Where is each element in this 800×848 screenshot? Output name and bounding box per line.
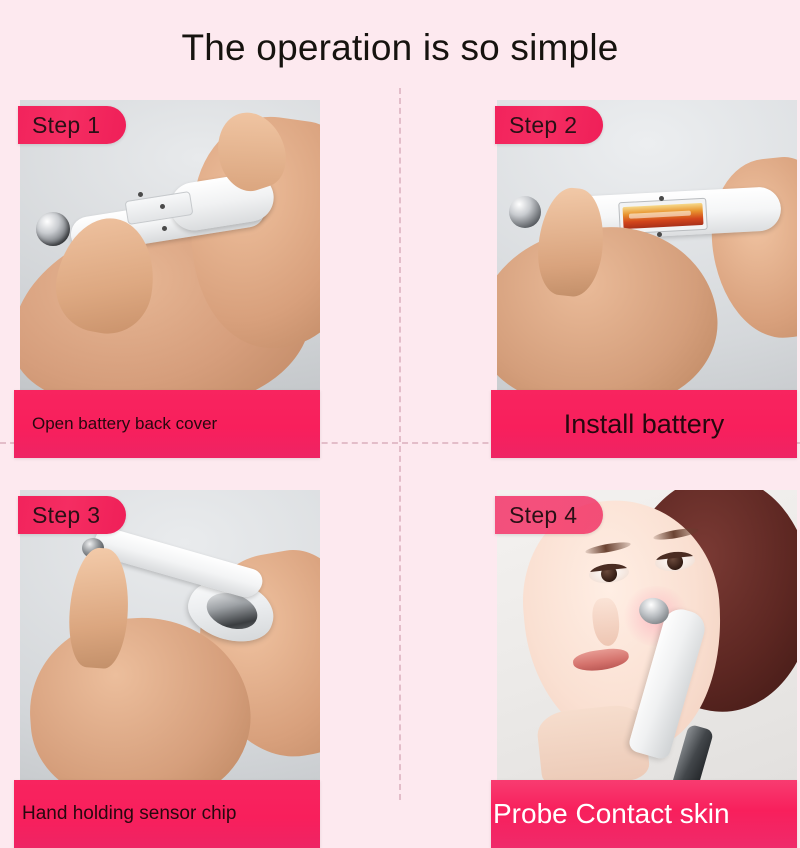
device-chrome-tip: [509, 196, 541, 228]
step-caption-bar-1: Open battery back cover: [14, 390, 320, 458]
step-caption-text-1: Open battery back cover: [14, 414, 217, 434]
device-screw-dot: [138, 192, 143, 197]
device-screw-dot: [162, 226, 167, 231]
divider-vertical: [399, 88, 401, 800]
step-caption-text-3: Hand holding sensor chip: [14, 803, 236, 825]
device-screw-dot: [659, 196, 664, 201]
step-card-1[interactable]: Step 1 Open battery back cover: [20, 100, 320, 390]
step-card-2[interactable]: Step 2 Install battery: [497, 100, 797, 390]
step-caption-text-2: Install battery: [491, 409, 797, 440]
step-badge-1: Step 1: [18, 106, 126, 144]
step-badge-4: Step 4: [495, 496, 603, 534]
step-caption-bar-3: Hand holding sensor chip: [14, 780, 320, 848]
step-caption-bar-4: Probe Contact skin: [491, 780, 797, 848]
device-chrome-tip: [36, 212, 70, 246]
step-badge-2: Step 2: [495, 106, 603, 144]
step-card-4[interactable]: Step 4 Probe Contact skin: [497, 490, 797, 780]
device-screw-dot: [160, 204, 165, 209]
step-caption-bar-2: Install battery: [491, 390, 797, 458]
page-title: The operation is so simple: [0, 28, 800, 69]
step-card-3[interactable]: Step 3 Hand holding sensor chip: [20, 490, 320, 780]
step-badge-3: Step 3: [18, 496, 126, 534]
battery: [622, 203, 703, 229]
step-caption-text-4: Probe Contact skin: [491, 798, 730, 830]
